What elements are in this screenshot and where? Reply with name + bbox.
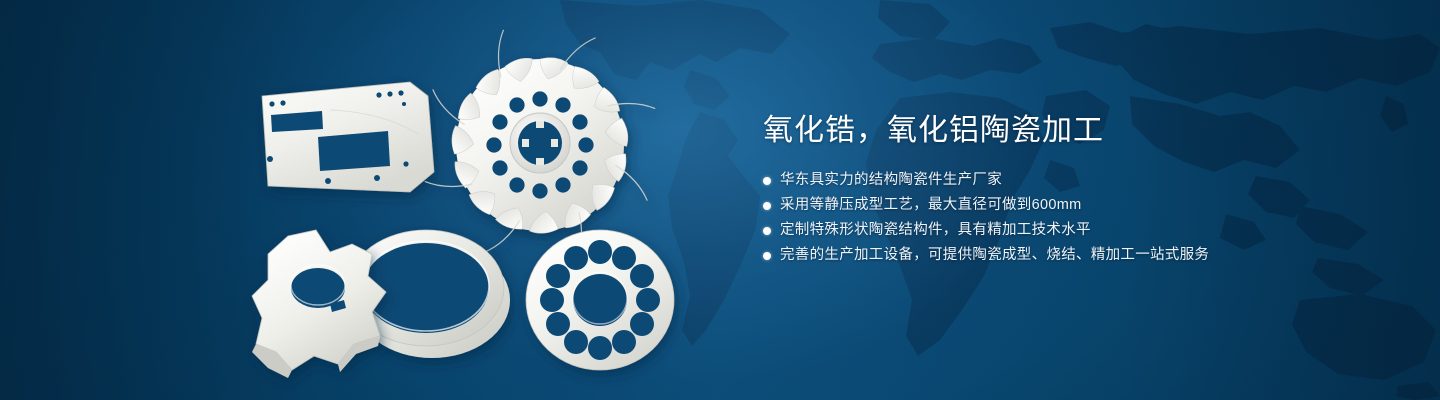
list-item: 华东具实力的结构陶瓷件生产厂家 bbox=[763, 172, 1323, 189]
hero-banner: 氧化锆，氧化铝陶瓷加工 华东具实力的结构陶瓷件生产厂家 采用等静压成型工艺，最大… bbox=[0, 0, 1440, 400]
banner-copy: 氧化锆，氧化铝陶瓷加工 华东具实力的结构陶瓷件生产厂家 采用等静压成型工艺，最大… bbox=[763, 112, 1323, 264]
bullet-icon bbox=[763, 252, 771, 260]
page-title: 氧化锆，氧化铝陶瓷加工 bbox=[763, 112, 1323, 150]
bullet-icon bbox=[763, 202, 771, 210]
feature-list: 华东具实力的结构陶瓷件生产厂家 采用等静压成型工艺，最大直径可做到600mm 定… bbox=[763, 172, 1323, 264]
feature-text: 华东具实力的结构陶瓷件生产厂家 bbox=[780, 172, 1002, 189]
part-ceramic-impeller bbox=[425, 30, 655, 260]
feature-text: 采用等静压成型工艺，最大直径可做到600mm bbox=[780, 197, 1081, 214]
ceramic-products-photo bbox=[0, 0, 760, 400]
feature-text: 完善的生产加工设备，可提供陶瓷成型、烧结、精加工一站式服务 bbox=[780, 247, 1209, 264]
part-ceramic-plate bbox=[262, 82, 434, 192]
list-item: 定制特殊形状陶瓷结构件，具有精加工技术水平 bbox=[763, 222, 1323, 239]
bullet-icon bbox=[763, 177, 771, 185]
part-perforated-disc bbox=[526, 230, 674, 370]
part-ceramic-cross bbox=[252, 230, 386, 378]
bullet-icon bbox=[763, 227, 771, 235]
list-item: 采用等静压成型工艺，最大直径可做到600mm bbox=[763, 197, 1323, 214]
list-item: 完善的生产加工设备，可提供陶瓷成型、烧结、精加工一站式服务 bbox=[763, 247, 1323, 264]
feature-text: 定制特殊形状陶瓷结构件，具有精加工技术水平 bbox=[780, 222, 1091, 239]
